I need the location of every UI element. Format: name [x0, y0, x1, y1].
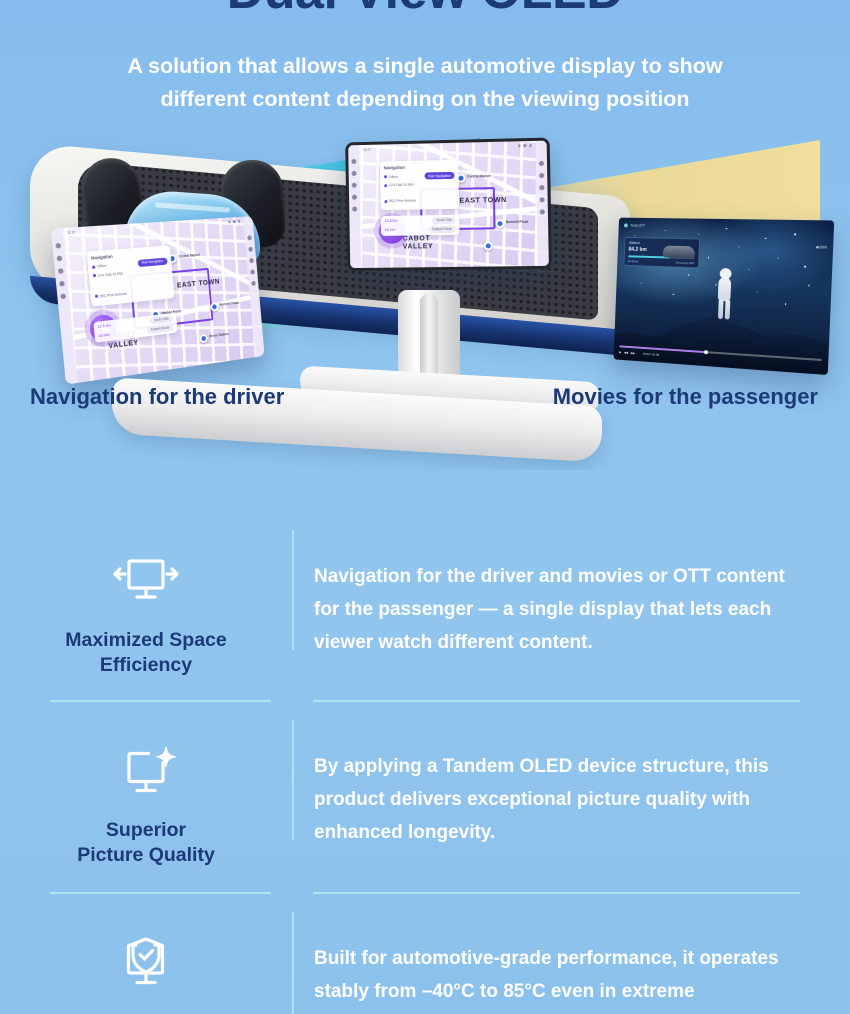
feature-vertical-divider	[292, 530, 294, 650]
movie-app-label: Tuna OTT	[630, 224, 645, 228]
route-dot-icon	[92, 265, 95, 268]
feature-vertical-divider	[292, 720, 294, 840]
navigation-row[interactable]: Office Start Navigation	[384, 172, 455, 180]
forward-icon[interactable]: ▶▶	[631, 351, 635, 355]
navigation-card[interactable]: Navigation Office Start Navigation 124 O…	[380, 160, 460, 210]
navigation-icon[interactable]	[57, 256, 63, 262]
navigation-row-text: 124 Oak St NW	[98, 271, 123, 277]
map-pin-label: Central Market	[467, 174, 491, 178]
feature-row: Maximized Space Efficiency Navigation fo…	[0, 512, 850, 702]
music-icon[interactable]	[249, 258, 254, 263]
navigation-row-text: 561 Pine Avenue	[389, 199, 416, 203]
astronaut-body	[718, 277, 732, 302]
navigation-row[interactable]: 12.8 km Avoid Tolls	[385, 217, 456, 225]
navigation-row-text: 18 min	[385, 228, 396, 232]
feature-left-column: Superior Picture Quality	[0, 718, 292, 868]
page-title: Dual View OLED	[0, 0, 850, 22]
route-dot-icon	[95, 295, 98, 298]
monitor-sparkle-icon	[108, 744, 184, 806]
music-icon[interactable]	[352, 183, 357, 188]
home-icon[interactable]	[55, 243, 61, 249]
display-driver-navigation: EAST TOWN CABOT VALLEY Central Market Be…	[51, 216, 265, 384]
app-logo-icon	[624, 223, 628, 227]
media-play-icon[interactable]	[539, 197, 544, 202]
navigation-card-title: Navigation	[384, 164, 455, 170]
car-illustration-icon	[663, 246, 695, 259]
feature-title: Maximized Space Efficiency	[65, 628, 226, 678]
status-time: 11:27	[363, 147, 371, 151]
feature-body: Navigation for the driver and movies or …	[314, 560, 800, 659]
astronaut-leg	[724, 299, 730, 319]
rewind-icon[interactable]: ◀◀	[624, 350, 628, 354]
navigation-row[interactable]: 124 Oak St NW	[384, 182, 455, 187]
battery-icon	[238, 220, 240, 223]
play-icon[interactable]: ▶	[619, 350, 621, 354]
hero-caption-driver: Navigation for the driver	[30, 384, 284, 410]
music-icon[interactable]	[58, 268, 64, 274]
monitor-shield-check-icon	[108, 936, 184, 998]
feature-title: Safety, Reliability	[66, 1010, 226, 1014]
route-dot-icon	[384, 200, 387, 203]
feature-body: Built for automotive-grade performance, …	[314, 942, 800, 1014]
settings-icon[interactable]	[352, 207, 357, 212]
navigation-row[interactable]: 561 Pine Avenue	[384, 198, 455, 203]
vehicle-range-widget[interactable]: Distance 84.2 km EV Mode Remaining 38%	[623, 237, 700, 268]
route-option-chip[interactable]: Fastest Route	[428, 226, 456, 233]
volume-icon[interactable]	[539, 161, 544, 166]
display-middle-navigation: EAST TOWN CABOT VALLEY Central Market Be…	[345, 138, 552, 272]
volume-icon[interactable]	[247, 235, 252, 240]
route-dot-icon	[384, 176, 387, 179]
movie-app-label-group: Tuna OTT	[624, 223, 645, 227]
screen-right-rail[interactable]	[535, 141, 548, 266]
route-dot-icon	[93, 274, 96, 277]
map-town-label-secondary: CABOT VALLEY	[403, 235, 434, 251]
status-time: 11:27	[67, 230, 76, 235]
start-navigation-chip[interactable]: Start Navigation	[137, 257, 167, 266]
widget-foot-right: Remaining 38%	[676, 261, 695, 266]
navigation-row[interactable]: 561 Pine Avenue	[95, 287, 170, 299]
navigation-card[interactable]: Navigation Office Start Navigation 124 O…	[86, 245, 174, 306]
settings-icon[interactable]	[251, 281, 256, 286]
navigation-row[interactable]: 18 min Fastest Route	[385, 226, 456, 234]
status-indicators	[228, 220, 240, 223]
feature-row: Safety, Reliability Built for automotive…	[0, 894, 850, 1014]
status-indicators	[518, 144, 532, 147]
astronaut-leg	[718, 299, 724, 319]
hero-section: EAST TOWN CABOT VALLEY Central Market Be…	[0, 0, 850, 470]
widget-footer: EV Mode Remaining 38%	[628, 259, 694, 265]
movie-status-indicators: 100%	[818, 245, 827, 249]
navigation-row-text: 18 min	[98, 333, 109, 338]
settings-icon[interactable]	[60, 293, 66, 299]
feature-row: Superior Picture Quality By applying a T…	[0, 702, 850, 894]
signal-icon	[228, 221, 230, 224]
widget-foot-left: EV Mode	[628, 259, 639, 263]
start-navigation-chip[interactable]: Start Navigation	[424, 172, 455, 180]
page-subtitle: A solution that allows a single automoti…	[85, 50, 765, 116]
feature-vertical-divider	[292, 912, 294, 1014]
hero-caption-passenger: Movies for the passenger	[553, 384, 818, 410]
navigation-metric-card[interactable]: 12.8 km Avoid Tolls 18 min Fastest Route	[381, 215, 460, 236]
battery-label: 100%	[818, 245, 827, 249]
settings-icon[interactable]	[540, 209, 545, 214]
features-section: Maximized Space Efficiency Navigation fo…	[0, 512, 850, 1014]
climate-icon[interactable]	[248, 247, 253, 252]
route-dot-icon	[384, 184, 387, 187]
wifi-icon	[233, 220, 235, 223]
route-option-chip[interactable]: Fastest Route	[146, 324, 173, 334]
navigation-row-text: 124 Oak St NW	[389, 183, 414, 187]
feature-title: Superior Picture Quality	[77, 818, 215, 868]
navigation-row-text: 12.8 km	[385, 219, 398, 223]
signal-icon	[518, 145, 521, 148]
media-play-icon[interactable]	[250, 269, 255, 274]
navigation-row-text: Office	[97, 264, 107, 269]
route-option-chip[interactable]: Avoid Tolls	[150, 315, 172, 325]
map-town-label: EAST TOWN	[459, 196, 507, 204]
feature-left-column: Safety, Reliability	[0, 910, 292, 1014]
map-pin-label: Bennett Plaza	[506, 220, 529, 224]
feature-right-column: By applying a Tandem OLED device structu…	[292, 718, 850, 849]
feature-left-column: Maximized Space Efficiency	[0, 528, 292, 678]
astronaut-figure	[714, 268, 735, 321]
media-play-icon[interactable]	[59, 281, 65, 287]
feature-right-column: Built for automotive-grade performance, …	[292, 910, 850, 1014]
navigation-icon[interactable]	[352, 171, 357, 176]
scrubber-handle[interactable]	[704, 350, 708, 354]
media-play-icon[interactable]	[352, 195, 357, 200]
navigation-row-text: 12.8 km	[98, 324, 111, 330]
navigation-row-text: Office	[389, 175, 398, 179]
battery-icon	[529, 144, 532, 147]
home-icon[interactable]	[351, 159, 356, 164]
monitor-expand-icon	[108, 554, 184, 616]
music-icon[interactable]	[539, 185, 544, 190]
feature-right-column: Navigation for the driver and movies or …	[292, 528, 850, 659]
route-option-chip[interactable]: Avoid Tolls	[433, 217, 456, 224]
screen-left-rail[interactable]	[348, 145, 361, 268]
wifi-icon	[523, 144, 526, 147]
feature-body: By applying a Tandem OLED device structu…	[314, 750, 800, 849]
display-passenger-movie: Tuna OTT 100% Distance 84.2 km EV Mode R…	[614, 218, 835, 375]
navigation-row-text: 561 Pine Avenue	[100, 291, 127, 298]
climate-icon[interactable]	[539, 173, 544, 178]
